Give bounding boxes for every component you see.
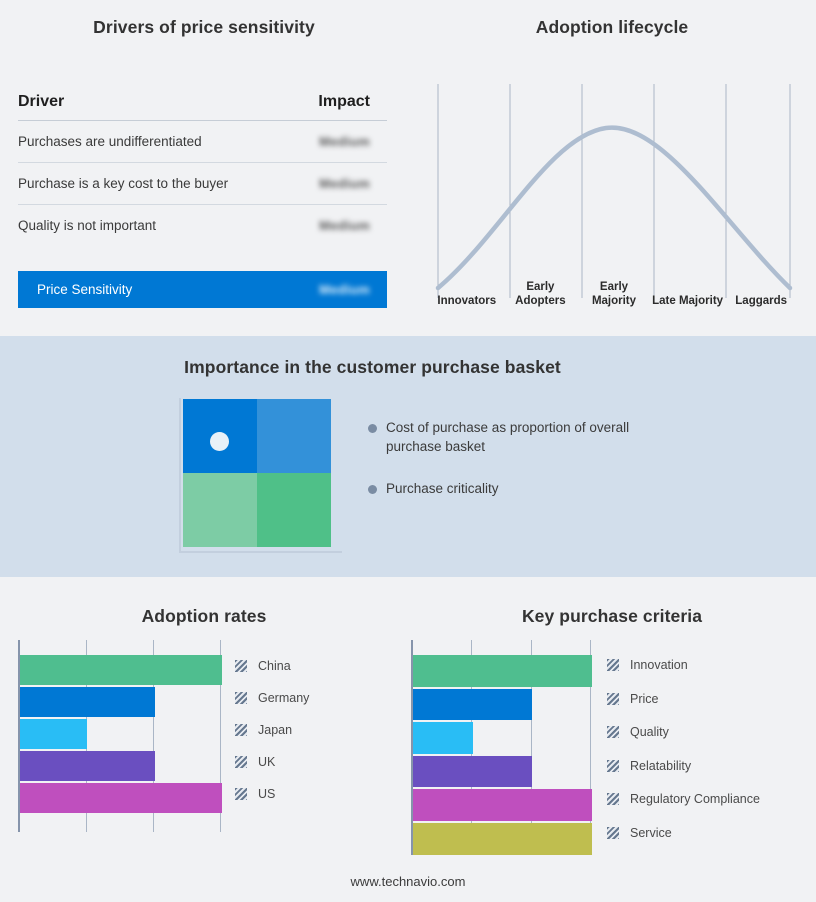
bar	[413, 823, 592, 855]
adoption-plot-area	[18, 640, 223, 832]
table-header-row: Driver Impact	[18, 93, 387, 121]
legend-swatch-icon	[235, 756, 247, 768]
adoption-rates-chart: ChinaGermanyJapanUKUS	[18, 640, 395, 832]
legend-swatch-icon	[607, 760, 619, 772]
legend-label: Purchase criticality	[386, 479, 499, 498]
legend-swatch-icon	[607, 726, 619, 738]
legend-label: US	[258, 787, 275, 801]
legend-item: China	[235, 659, 291, 673]
legend-label: Innovation	[630, 658, 688, 672]
column-header-impact: Impact	[318, 93, 387, 111]
bar	[20, 751, 155, 781]
footer-url: www.technavio.com	[0, 874, 816, 889]
lifecycle-stage: Early Majority	[577, 265, 651, 311]
legend-label: Germany	[258, 691, 309, 705]
legend-label: UK	[258, 755, 275, 769]
bar	[413, 655, 592, 687]
quadrant-bottom-right	[257, 473, 331, 547]
key-criteria-title: Key purchase criteria	[408, 606, 816, 627]
quadrant-matrix	[183, 399, 331, 547]
legend-swatch-icon	[235, 692, 247, 704]
price-sensitivity-summary-row: Price Sensitivity Medium	[18, 271, 387, 308]
quadrant-bottom-left	[183, 473, 257, 547]
drivers-title: Drivers of price sensitivity	[0, 17, 408, 38]
legend-label: Service	[630, 826, 672, 840]
quadrant-top-right	[257, 399, 331, 473]
table-row: Quality is not important Medium	[18, 205, 387, 246]
legend-item: Purchase criticality	[368, 479, 668, 498]
legend-label: Regulatory Compliance	[630, 792, 760, 806]
key-criteria-chart: InnovationPriceQualityRelatabilityRegula…	[411, 640, 816, 855]
adoption-rates-panel: Adoption rates ChinaGermanyJapanUKUS	[0, 577, 408, 902]
lifecycle-stage-labels: Innovators Early Adopters Early Majority…	[430, 265, 798, 311]
legend-label: Relatability	[630, 759, 691, 773]
basket-legend: Cost of purchase as proportion of overal…	[368, 418, 668, 521]
legend-label: Cost of purchase as proportion of overal…	[386, 418, 641, 456]
legend-item: Price	[607, 692, 658, 706]
criteria-plot-area	[411, 640, 593, 855]
drivers-table: Driver Impact Purchases are undifferenti…	[18, 93, 387, 246]
driver-label: Purchases are undifferentiated	[18, 134, 202, 149]
quadrant-bottom-frame	[179, 551, 342, 553]
impact-value: Medium	[319, 218, 387, 233]
impact-value: Medium	[319, 176, 387, 191]
bar	[413, 722, 473, 754]
bar	[20, 719, 87, 749]
bar	[413, 756, 532, 788]
legend-item: US	[235, 787, 275, 801]
bar	[20, 783, 222, 813]
lifecycle-panel: Adoption lifecycle Innovators Early Adop…	[408, 0, 816, 336]
legend-swatch-icon	[607, 793, 619, 805]
legend-item: Relatability	[607, 759, 691, 773]
bar	[413, 689, 532, 721]
impact-value: Medium	[319, 134, 387, 149]
legend-item: UK	[235, 755, 275, 769]
legend-label: Quality	[630, 725, 669, 739]
bar	[20, 655, 222, 685]
table-row: Purchases are undifferentiated Medium	[18, 121, 387, 163]
bar	[413, 789, 592, 821]
criteria-bars	[413, 640, 593, 855]
key-criteria-panel: Key purchase criteria InnovationPriceQua…	[408, 577, 816, 902]
bullet-icon	[368, 424, 377, 433]
table-row: Purchase is a key cost to the buyer Medi…	[18, 163, 387, 205]
legend-label: Japan	[258, 723, 292, 737]
basket-title: Importance in the customer purchase bask…	[0, 357, 745, 378]
lifecycle-stage: Late Majority	[651, 265, 725, 311]
quadrant-left-frame	[179, 398, 181, 553]
legend-item: Regulatory Compliance	[607, 792, 760, 806]
lifecycle-stage: Laggards	[724, 265, 798, 311]
legend-swatch-icon	[235, 724, 247, 736]
legend-item: Service	[607, 826, 672, 840]
legend-label: China	[258, 659, 291, 673]
bar	[20, 687, 155, 717]
drivers-panel: Drivers of price sensitivity Driver Impa…	[0, 0, 408, 336]
legend-swatch-icon	[607, 827, 619, 839]
legend-item: Germany	[235, 691, 309, 705]
bullet-icon	[368, 485, 377, 494]
legend-item: Innovation	[607, 658, 688, 672]
column-header-driver: Driver	[18, 93, 64, 111]
driver-label: Purchase is a key cost to the buyer	[18, 176, 228, 191]
legend-item: Cost of purchase as proportion of overal…	[368, 418, 668, 456]
lifecycle-stage: Early Adopters	[504, 265, 578, 311]
legend-label: Price	[630, 692, 658, 706]
legend-swatch-icon	[235, 788, 247, 800]
legend-swatch-icon	[607, 693, 619, 705]
price-sensitivity-label: Price Sensitivity	[37, 282, 132, 297]
driver-label: Quality is not important	[18, 218, 156, 233]
adoption-bars	[20, 640, 223, 832]
adoption-legend: ChinaGermanyJapanUKUS	[235, 640, 395, 832]
criteria-legend: InnovationPriceQualityRelatabilityRegula…	[607, 640, 816, 855]
lifecycle-chart: Innovators Early Adopters Early Majority…	[430, 76, 798, 311]
lifecycle-stage: Innovators	[430, 265, 504, 311]
legend-swatch-icon	[607, 659, 619, 671]
adoption-rates-title: Adoption rates	[0, 606, 408, 627]
legend-item: Quality	[607, 725, 669, 739]
price-sensitivity-impact: Medium	[319, 282, 387, 297]
legend-item: Japan	[235, 723, 292, 737]
adoption-bell-curve	[438, 128, 790, 288]
lifecycle-title: Adoption lifecycle	[408, 17, 816, 38]
quadrant-position-marker	[210, 432, 229, 451]
legend-swatch-icon	[235, 660, 247, 672]
